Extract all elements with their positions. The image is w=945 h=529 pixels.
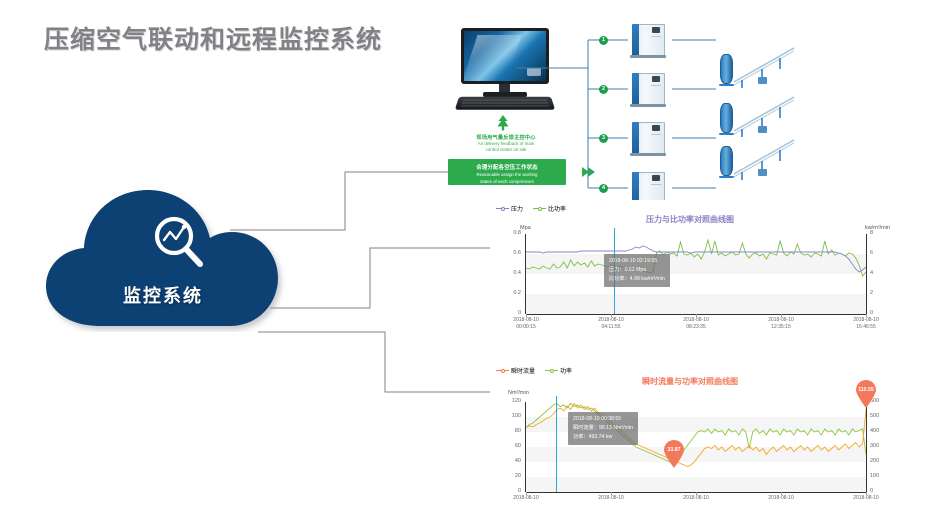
x-tick-mark [866, 492, 867, 495]
legend-item-power[interactable]: 功率 [545, 366, 572, 375]
pipe-network-3 [732, 136, 802, 180]
x-tick-mark [866, 314, 867, 317]
y-tick-label: 0.2 [490, 290, 521, 296]
x-tick-time: 00:00:15 [516, 324, 535, 330]
x-tick-date: 2018-08-10 [853, 495, 879, 501]
monitoring-system-cloud[interactable]: 监控系统 [38, 186, 288, 332]
y-tick-label: 0.8 [490, 230, 521, 236]
x-tick-time: 12:35:15 [771, 324, 790, 330]
x-tick-mark [781, 492, 782, 495]
page-title: 压缩空气联动和远程监控系统 [44, 20, 382, 56]
legend-marker-specific-power [533, 205, 546, 212]
legend-marker-power [545, 367, 558, 374]
x-tick-label: 2018-08-10 [666, 495, 726, 502]
x-tick-label: 2018-08-1016:46:55 [836, 317, 896, 331]
chart2-legend[interactable]: 瞬时流量 功率 [496, 366, 572, 375]
chart1-y2label: kw/m³/min [865, 225, 890, 231]
x-tick-label: 2018-08-10 [836, 495, 896, 502]
y2-tick-label: 0 [870, 488, 873, 494]
y-tick-label: 120 [490, 398, 521, 404]
air-compressor-1 [628, 22, 666, 58]
y2-tick-label: 200 [870, 458, 879, 464]
y2-tick-label: 6 [870, 250, 873, 256]
x-tick-label: 2018-08-1000:00:15 [496, 317, 556, 331]
x-tick-date: 2018-08-10 [513, 495, 539, 501]
chart-tooltip: 2018-08-10 00:38:55瞬时流量：98.13 Nm³/min功率：… [568, 412, 638, 445]
x-tick-mark [611, 314, 612, 317]
x-tick-mark [696, 314, 697, 317]
y-tick-label: 0.4 [490, 270, 521, 276]
y-tick-label: 60 [490, 443, 521, 449]
chart-cursor-line[interactable] [556, 396, 557, 492]
pipe-network-1 [732, 44, 802, 88]
x-tick-label: 2018-08-1008:23:35 [666, 317, 726, 331]
y2-tick-label: 500 [870, 413, 879, 419]
x-tick-label: 2018-08-10 [496, 495, 556, 502]
x-tick-date: 2018-08-10 [598, 495, 624, 501]
y2-tick-label: 400 [870, 428, 879, 434]
y2-tick-label: 0 [870, 310, 873, 316]
chart-series-svg [526, 234, 866, 314]
air-compressor-3 [628, 120, 666, 156]
x-tick-mark [526, 492, 527, 495]
legend-marker-pressure [496, 205, 509, 212]
legend-label-pressure: 压力 [511, 204, 523, 213]
x-tick-mark [696, 492, 697, 495]
chart-tooltip: 2018-08-10 02:19:55压力：0.63 Mpa比功率：4.99 k… [604, 254, 670, 287]
chart1-legend[interactable]: 压力 比功率 [496, 204, 566, 213]
y2-tick-label: 100 [870, 473, 879, 479]
cloud-label: 监控系统 [38, 282, 288, 308]
chart1-plot-area[interactable] [526, 234, 866, 314]
pin-value: 33.87 [663, 447, 685, 453]
x-tick-date: 2018-08-10 [768, 317, 794, 323]
y-tick-label: 100 [490, 413, 521, 419]
x-tick-time: 08:23:35 [686, 324, 705, 330]
x-tick-mark [781, 314, 782, 317]
x-tick-label: 2018-08-1012:35:15 [751, 317, 811, 331]
y-tick-label: 40 [490, 458, 521, 464]
chart-pressure-vs-specific-power: 压力 比功率 压力与比功率对照曲线图 Mpa kw/m³/min 0.80.60… [490, 200, 890, 335]
y2-tick-label: 300 [870, 443, 879, 449]
tooltip-line1: 瞬时流量：98.13 Nm³/min [573, 424, 633, 433]
node-marker-1: 1 [599, 36, 608, 45]
y-tick-label: 0.6 [490, 250, 521, 256]
chart2-title: 瞬时流量与功率对照曲线图 [490, 376, 890, 387]
tooltip-line2: 比功率：4.99 kw/m³/min [609, 275, 665, 284]
legend-label-instant-flow: 瞬时流量 [511, 366, 535, 375]
pin-value: 110.55 [855, 387, 877, 393]
slide-canvas: 压缩空气联动和远程监控系统 监控系统 [0, 0, 945, 529]
x-tick-time: 04:11:55 [601, 324, 620, 330]
x-tick-date: 2018-08-10 [598, 317, 624, 323]
magnifier-chart-icon [148, 214, 210, 272]
map-pin-icon [855, 380, 877, 408]
x-tick-date: 2018-08-10 [683, 317, 709, 323]
y-tick-label: 20 [490, 473, 521, 479]
legend-label-specific-power: 比功率 [548, 204, 566, 213]
node-marker-2: 2 [599, 85, 608, 94]
legend-label-power: 功率 [560, 366, 572, 375]
y-tick-label: 0 [490, 310, 521, 316]
chart-marker-pin[interactable]: 110.55 [855, 380, 877, 408]
map-pin-icon [663, 440, 685, 468]
node-marker-3: 3 [599, 134, 608, 143]
chart1-title: 压力与比功率对照曲线图 [490, 214, 890, 225]
screen-glare [463, 35, 522, 81]
chart-marker-pin[interactable]: 33.87 [663, 440, 685, 468]
x-tick-date: 2018-08-10 [513, 317, 539, 323]
tooltip-line1: 压力：0.63 Mpa [609, 266, 665, 275]
chart-y2-axis [866, 234, 867, 314]
x-tick-label: 2018-08-1004:11:55 [581, 317, 641, 331]
legend-item-pressure[interactable]: 压力 [496, 204, 523, 213]
legend-marker-instant-flow [496, 367, 509, 374]
air-compressor-2 [628, 71, 666, 107]
x-tick-mark [611, 492, 612, 495]
y2-tick-label: 4 [870, 270, 873, 276]
tooltip-timestamp: 2018-08-10 02:19:55 [609, 257, 665, 266]
chart-y-axis [525, 234, 526, 314]
y2-tick-label: 8 [870, 230, 873, 236]
x-tick-label: 2018-08-10 [751, 495, 811, 502]
legend-item-instant-flow[interactable]: 瞬时流量 [496, 366, 535, 375]
x-tick-mark [526, 314, 527, 317]
x-tick-date: 2018-08-10 [768, 495, 794, 501]
tree-icon [494, 114, 512, 132]
pipe-network-2 [732, 93, 802, 137]
node-marker-4: 4 [599, 184, 608, 193]
chart1-ylabel: Mpa [520, 225, 531, 231]
x-tick-date: 2018-08-10 [683, 495, 709, 501]
y2-tick-label: 2 [870, 290, 873, 296]
chart-instant-flow-vs-power: 瞬时流量 功率 瞬时流量与功率对照曲线图 Nm³/min 12010080604… [490, 362, 890, 512]
chart-y2-axis [866, 402, 867, 492]
system-diagram: 现场用气量反馈主控中心 Air delivery feedback of mai… [432, 18, 937, 198]
x-tick-label: 2018-08-10 [581, 495, 641, 502]
chart-y-axis [525, 402, 526, 492]
y-tick-label: 80 [490, 428, 521, 434]
tooltip-timestamp: 2018-08-10 00:38:55 [573, 415, 633, 424]
y-tick-label: 0 [490, 488, 521, 494]
chart2-ylabel: Nm³/min [508, 390, 529, 396]
x-tick-time: 16:46:55 [856, 324, 875, 330]
tooltip-line2: 功率：493.74 kw [573, 433, 633, 442]
x-tick-date: 2018-08-10 [853, 317, 879, 323]
legend-item-specific-power[interactable]: 比功率 [533, 204, 566, 213]
